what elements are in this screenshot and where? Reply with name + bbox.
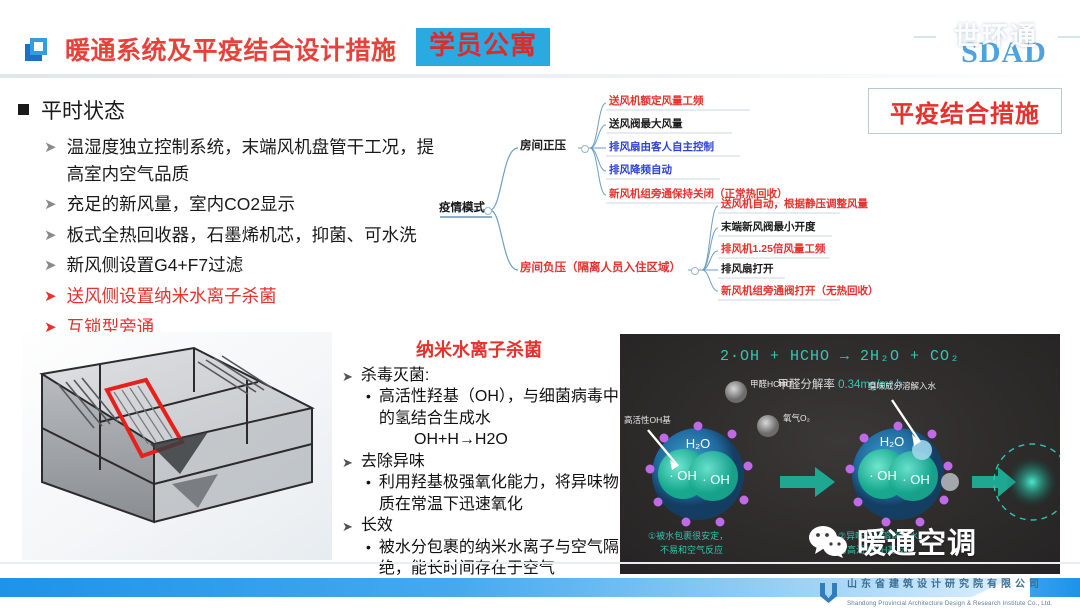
arrow-bullet-icon: ➤ — [44, 194, 57, 217]
mindmap-toggle-root[interactable] — [484, 207, 492, 215]
nano-ion-text-block: 纳米水离子杀菌 ➤ 杀毒灭菌: • 高活性羟基（OH），与细菌病毒中的氢结合生成… — [338, 336, 620, 579]
mindmap-leaf: 新风机组旁通阀打开（无热回收） — [721, 286, 879, 298]
chem-label-dissolve: 臭味成分溶解入水 — [868, 380, 936, 392]
nano-sub-label: 利用羟基极强氧化能力，将异味物质在常温下迅速氧化 — [379, 472, 620, 515]
square-bullet-icon — [18, 104, 29, 115]
callout-label: 平疫结合措施 — [890, 94, 1040, 129]
bullet-heading-label: 平时状态 — [41, 95, 125, 125]
list-item: ➤ 新风侧设置G4+F7过滤 — [44, 252, 438, 279]
nano-sub-label: 被水分包裹的纳米水离子与空气隔绝，能长时间存在于空气 — [379, 537, 620, 580]
mindmap-leaf: 排风降频自动 — [609, 165, 672, 177]
nano-title: 纳米水离子杀菌 — [338, 336, 620, 362]
arrow-bullet-icon: ➤ — [44, 255, 57, 278]
arrow-bullet-icon: ➤ — [342, 518, 353, 536]
mindmap-toggle-positive[interactable] — [581, 145, 589, 153]
mindmap-leaf: 排风扇打开 — [721, 264, 774, 276]
arrow-bullet-icon: ➤ — [44, 225, 57, 248]
section-badge: 学员公寓 — [416, 28, 550, 66]
mindmap: 疫情模式 房间正压 房间负压（隔离人员入住区域） 送风机额定风量工频 送风阀最大… — [440, 88, 840, 318]
mindmap-leaf: 送风机额定风量工频 — [609, 96, 704, 108]
mindmap-leaf: 送风阀最大风量 — [609, 119, 683, 131]
nano-section-head: ➤ 杀毒灭菌: — [342, 365, 620, 386]
mindmap-root-node: 疫情模式 — [439, 202, 485, 215]
mindmap-branch-positive: 房间正压 — [520, 140, 566, 153]
mindmap-leaf: 末端新风阀最小开度 — [721, 222, 816, 234]
list-item-label: 送风侧设置纳米水离子杀菌 — [67, 283, 277, 310]
slide-root: 暖通系统及平疫结合设计措施 学员公寓 SDAD 世环通 平时状态 ➤ 温湿度独立… — [0, 0, 1080, 608]
arrow-bullet-icon: ➤ — [342, 454, 353, 472]
footer-company-en: Shandong Provincial Architecture Design … — [847, 600, 1052, 607]
svg-text:· OH: · OH — [702, 472, 729, 487]
list-item: ➤ 板式全热回收器，石墨烯机芯，抑菌、可水洗 — [44, 222, 438, 249]
nano-equation: OH+H→H2O — [414, 429, 620, 450]
arrow-bullet-icon: ➤ — [44, 137, 57, 160]
list-item-label: 温湿度独立控制系统，末端风机盘管干工况，提高室内空气品质 — [67, 134, 438, 187]
wechat-watermark: 暖通空调 — [808, 520, 977, 562]
arrow-bullet-icon: ➤ — [342, 368, 353, 386]
model-wireframe — [22, 332, 332, 560]
list-item-label: 板式全热回收器，石墨烯机芯，抑菌、可水洗 — [67, 222, 417, 249]
chem-label-o2: 氧气O₂ — [783, 412, 810, 424]
watermark-rule-right — [1058, 36, 1080, 38]
nano-section-sub: • 被水分包裹的纳米水离子与空气隔绝，能长时间存在于空气 — [366, 537, 620, 580]
chem-caption-1: ①被水包裹很安定， — [648, 530, 728, 543]
nano-head-label: 长效 — [361, 515, 393, 536]
chem-label-hcho: 甲醛HCHO — [750, 378, 792, 390]
watermark-text: 世环通 — [930, 16, 1062, 53]
footer-company-cn: 山东省建筑设计研究院有限公司 — [847, 579, 1043, 590]
dot-bullet-icon: • — [366, 387, 371, 429]
svg-text:· OH: · OH — [869, 468, 896, 483]
slide-header: 暖通系统及平疫结合设计措施 学员公寓 — [0, 0, 1080, 78]
watermark-rule-left — [914, 36, 936, 38]
list-item-label: 新风侧设置G4+F7过滤 — [67, 252, 244, 279]
brand-logo: SDAD 世环通 — [922, 8, 1072, 70]
double-square-icon — [25, 38, 49, 62]
nano-head-label: 杀毒灭菌: — [361, 365, 429, 386]
bullet-list: 平时状态 ➤ 温湿度独立控制系统，末端风机盘管干工况，提高室内空气品质 ➤ 充足… — [18, 95, 438, 344]
list-item: ➤ 充足的新风量，室内CO2显示 — [44, 191, 438, 218]
header-divider — [0, 74, 1080, 78]
nano-section-head: ➤ 长效 — [342, 515, 620, 536]
building-3d-model-image — [22, 332, 332, 560]
mindmap-leaf: 排风扇由客人自主控制 — [609, 142, 714, 154]
svg-text:H₂O: H₂O — [686, 436, 711, 451]
list-item: ➤ 温湿度独立控制系统，末端风机盘管干工况，提高室内空气品质 — [44, 134, 438, 187]
arrow-bullet-icon: ➤ — [44, 286, 57, 309]
svg-text:H₂O: H₂O — [880, 434, 905, 449]
chem-label-oh-radical: 高活性OH基 — [624, 414, 671, 426]
nano-section-head: ➤ 去除异味 — [342, 451, 620, 472]
callout-box: 平疫结合措施 — [868, 88, 1062, 134]
nano-section-sub: • 高活性羟基（OH），与细菌病毒中的氢结合生成水 — [366, 386, 620, 429]
footer-logo: 山东省建筑设计研究院有限公司 Shandong Provincial Archi… — [818, 574, 1052, 610]
bullet-heading: 平时状态 — [18, 95, 438, 125]
mindmap-branch-negative: 房间负压（隔离人员入住区域） — [520, 262, 681, 275]
nano-head-label: 去除异味 — [361, 451, 425, 472]
wechat-icon — [808, 525, 848, 558]
nano-sub-label: 高活性羟基（OH），与细菌病毒中的氢结合生成水 — [379, 386, 620, 429]
mindmap-toggle-negative[interactable] — [691, 267, 699, 275]
dot-bullet-icon: • — [366, 473, 371, 515]
footer-divider — [0, 562, 1080, 564]
nano-section-sub: • 利用羟基极强氧化能力，将异味物质在常温下迅速氧化 — [366, 472, 620, 515]
institute-mark-icon — [818, 581, 839, 604]
chem-caption-2: 不易和空气反应 — [660, 544, 723, 557]
dot-bullet-icon: • — [366, 538, 371, 580]
svg-text:· OH: · OH — [669, 468, 696, 483]
list-item-label: 充足的新风量，室内CO2显示 — [67, 191, 295, 218]
list-item: ➤ 送风侧设置纳米水离子杀菌 — [44, 283, 438, 310]
mindmap-leaf: 排风机1.25倍风量工频 — [721, 244, 825, 256]
svg-text:· OH: · OH — [902, 472, 929, 487]
wechat-name: 暖通空调 — [857, 520, 977, 562]
page-title: 暖通系统及平疫结合设计措施 — [65, 31, 397, 67]
mindmap-leaf: 送风机自动，根据静压调整风量 — [721, 199, 868, 211]
